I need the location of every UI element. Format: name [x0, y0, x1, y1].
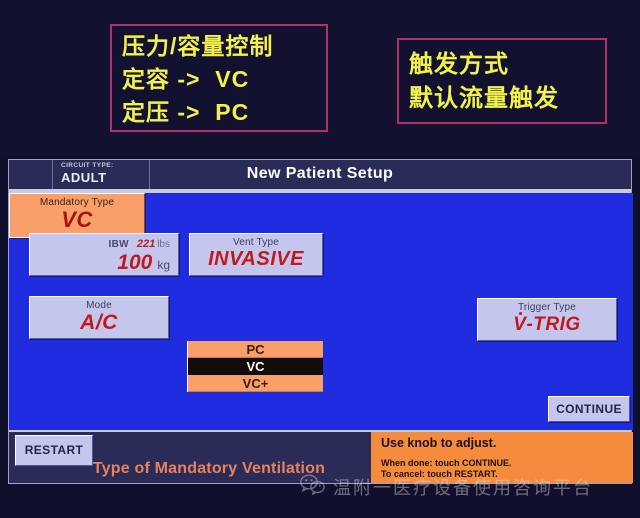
ibw-kilograms-row: 100kg: [30, 251, 170, 277]
annotation-right-line-1: 触发方式: [409, 48, 595, 82]
trigger-type-value: V-TRIG: [478, 313, 616, 336]
help-primary-text: Use knob to adjust.: [381, 436, 633, 451]
annotation-left-line-3: 定压 -> PC: [122, 96, 316, 129]
ibw-tile[interactable]: IBW221lbs 100kg: [29, 233, 179, 276]
vent-type-label: Vent Type: [190, 237, 322, 248]
ibw-label: IBW: [109, 239, 129, 250]
page-title: New Patient Setup: [9, 165, 631, 183]
mandatory-type-option-list[interactable]: PC VC VC+: [187, 341, 323, 392]
vent-type-value: INVASIVE: [190, 248, 322, 271]
trigger-type-value-suffix: -TRIG: [526, 314, 580, 335]
annotation-box-trigger-mode: 触发方式 默认流量触发: [397, 38, 607, 124]
ventilator-screen: CIRCUIT TYPE: ADULT New Patient Setup IB…: [8, 159, 632, 484]
ibw-pounds-row: IBW221lbs: [30, 236, 170, 251]
watermark-text: 温附一医疗设备使用咨询平台: [333, 474, 593, 500]
screen-body: IBW221lbs 100kg Vent Type INVASIVE Mode …: [9, 193, 633, 430]
ibw-kilograms-value: 100: [117, 251, 152, 274]
mandatory-type-option-vcplus[interactable]: VC+: [188, 375, 323, 392]
mode-label: Mode: [30, 300, 168, 311]
ibw-pounds-unit: lbs: [157, 239, 170, 250]
annotation-left-line-1: 压力/容量控制: [122, 30, 316, 63]
trigger-type-label: Trigger Type: [478, 302, 616, 313]
mandatory-type-option-vc[interactable]: VC: [188, 358, 323, 375]
trigger-type-tile[interactable]: Trigger Type V-TRIG: [477, 298, 617, 341]
annotation-left-line-2: 定容 -> VC: [122, 63, 316, 96]
vent-type-tile[interactable]: Vent Type INVASIVE: [189, 233, 323, 276]
continue-button[interactable]: CONTINUE: [548, 396, 630, 422]
mandatory-type-value: VC: [10, 208, 144, 231]
help-spacer: [381, 451, 633, 458]
annotation-area: 压力/容量控制 定容 -> VC 定压 -> PC 触发方式 默认流量触发: [0, 0, 640, 155]
screenshot-root: 压力/容量控制 定容 -> VC 定压 -> PC 触发方式 默认流量触发 CI…: [0, 0, 640, 518]
ibw-kilograms-unit: kg: [157, 258, 170, 272]
annotation-right-line-2: 默认流量触发: [409, 82, 595, 116]
watermark: 温附一医疗设备使用咨询平台: [300, 472, 630, 502]
screen-header: CIRCUIT TYPE: ADULT New Patient Setup: [9, 160, 631, 191]
trigger-type-value-prefix: V: [513, 314, 526, 335]
mode-value: A/C: [30, 311, 168, 334]
mandatory-type-option-pc[interactable]: PC: [188, 341, 323, 358]
help-when-done-text: When done: touch CONTINUE.: [381, 458, 633, 469]
mandatory-type-tile[interactable]: Mandatory Type VC: [9, 193, 145, 238]
ibw-pounds-value: 221: [137, 238, 155, 250]
annotation-box-pressure-volume-control: 压力/容量控制 定容 -> VC 定压 -> PC: [110, 24, 328, 132]
mode-tile[interactable]: Mode A/C: [29, 296, 169, 339]
wechat-icon: [300, 474, 326, 500]
